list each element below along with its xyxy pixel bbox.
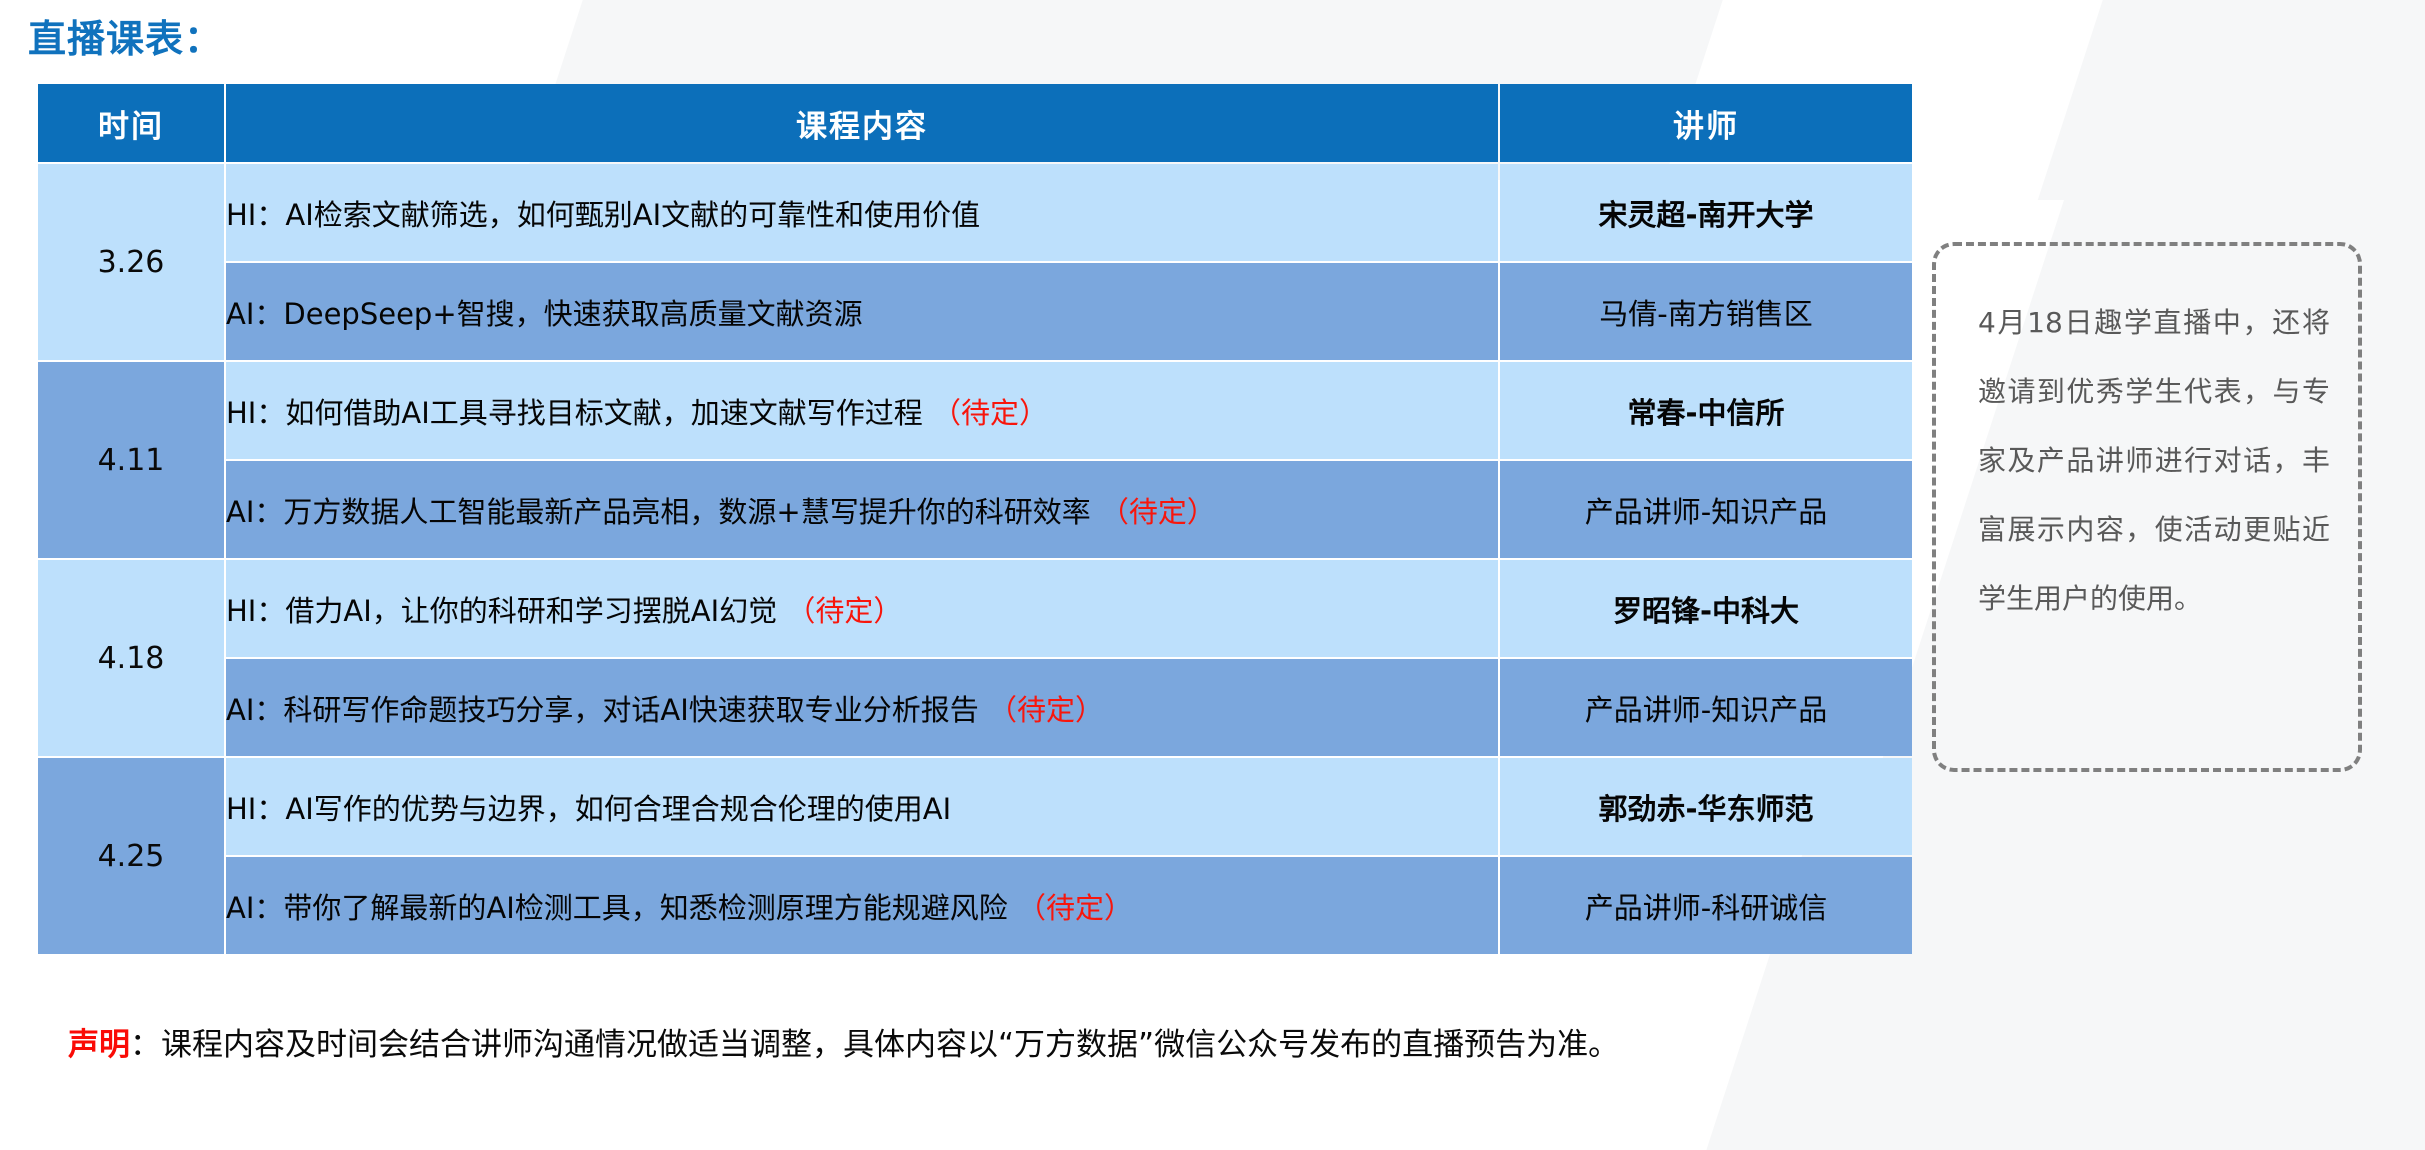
course-title: AI：带你了解最新的AI检测工具，知悉检测原理方能规避风险 [226,891,1008,925]
cell-date: 4.11 [38,362,224,558]
table-header-row: 时间 课程内容 讲师 [38,84,1912,162]
cell-teacher: 常春-中信所 [1500,362,1912,459]
cell-course-content: AI：科研写作命题技巧分享，对话AI快速获取专业分析报告 （待定） [226,659,1498,756]
schedule-table: 时间 课程内容 讲师 3.26HI：AI检索文献筛选，如何甄别AI文献的可靠性和… [36,82,1914,956]
table-row: 4.25HI：AI写作的优势与边界，如何合理合规合伦理的使用AI郭劲赤-华东师范 [38,758,1912,855]
cell-course-content: AI：DeepSeep+智搜，快速获取高质量文献资源 [226,263,1498,360]
cell-course-content: HI：AI写作的优势与边界，如何合理合规合伦理的使用AI [226,758,1498,855]
table-row: 4.11HI：如何借助AI工具寻找目标文献，加速文献写作过程 （待定）常春-中信… [38,362,1912,459]
callout-text: 4月18日趣学直播中，还将邀请到优秀学生代表，与专家及产品讲师进行对话，丰富展示… [1978,288,2330,633]
table-row: AI：科研写作命题技巧分享，对话AI快速获取专业分析报告 （待定）产品讲师-知识… [38,659,1912,756]
statement-label: 声明 [68,1027,130,1063]
course-title: HI：借力AI，让你的科研和学习摆脱AI幻觉 [226,594,777,628]
course-title: HI：AI写作的优势与边界，如何合理合规合伦理的使用AI [226,792,951,826]
statement: 声明：课程内容及时间会结合讲师沟通情况做适当调整，具体内容以“万方数据”微信公众… [68,1022,2358,1068]
cell-teacher: 马倩-南方销售区 [1500,263,1912,360]
table-header: 时间 课程内容 讲师 [38,84,1912,162]
cell-teacher: 宋灵超-南开大学 [1500,164,1912,261]
course-title: AI：科研写作命题技巧分享，对话AI快速获取专业分析报告 [226,693,979,727]
cell-course-content: HI：AI检索文献筛选，如何甄别AI文献的可靠性和使用价值 [226,164,1498,261]
pending-badge: （待定） [1100,495,1216,529]
column-header-content: 课程内容 [226,84,1498,162]
cell-teacher: 产品讲师-知识产品 [1500,461,1912,558]
table-row: AI：DeepSeep+智搜，快速获取高质量文献资源马倩-南方销售区 [38,263,1912,360]
pending-badge: （待定） [988,693,1104,727]
course-title: HI：如何借助AI工具寻找目标文献，加速文献写作过程 [226,396,923,430]
course-title: AI：DeepSeep+智搜，快速获取高质量文献资源 [226,297,863,331]
cell-teacher: 产品讲师-科研诚信 [1500,857,1912,954]
course-title: HI：AI检索文献筛选，如何甄别AI文献的可靠性和使用价值 [226,198,980,232]
cell-course-content: HI：如何借助AI工具寻找目标文献，加速文献写作过程 （待定） [226,362,1498,459]
cell-course-content: AI：万方数据人工智能最新产品亮相，数源+慧写提升你的科研效率 （待定） [226,461,1498,558]
table-row: 3.26HI：AI检索文献筛选，如何甄别AI文献的可靠性和使用价值宋灵超-南开大… [38,164,1912,261]
cell-teacher: 罗昭锋-中科大 [1500,560,1912,657]
background-band [2038,0,2425,200]
column-header-teacher: 讲师 [1500,84,1912,162]
course-title: AI：万方数据人工智能最新产品亮相，数源+慧写提升你的科研效率 [226,495,1091,529]
cell-teacher: 产品讲师-知识产品 [1500,659,1912,756]
statement-body: 课程内容及时间会结合讲师沟通情况做适当调整，具体内容以“万方数据”微信公众号发布… [161,1027,1619,1063]
cell-teacher: 郭劲赤-华东师范 [1500,758,1912,855]
pending-badge: （待定） [1017,891,1133,925]
cell-date: 4.18 [38,560,224,756]
statement-separator: ： [130,1027,161,1063]
cell-date: 3.26 [38,164,224,360]
table-row: 4.18HI：借力AI，让你的科研和学习摆脱AI幻觉 （待定）罗昭锋-中科大 [38,560,1912,657]
column-header-time: 时间 [38,84,224,162]
cell-date: 4.25 [38,758,224,954]
cell-course-content: AI：带你了解最新的AI检测工具，知悉检测原理方能规避风险 （待定） [226,857,1498,954]
table-row: AI：带你了解最新的AI检测工具，知悉检测原理方能规避风险 （待定）产品讲师-科… [38,857,1912,954]
table-row: AI：万方数据人工智能最新产品亮相，数源+慧写提升你的科研效率 （待定）产品讲师… [38,461,1912,558]
table-body: 3.26HI：AI检索文献筛选，如何甄别AI文献的可靠性和使用价值宋灵超-南开大… [38,164,1912,954]
pending-badge: （待定） [786,594,902,628]
pending-badge: （待定） [932,396,1048,430]
page-title: 直播课表： [28,8,223,63]
cell-course-content: HI：借力AI，让你的科研和学习摆脱AI幻觉 （待定） [226,560,1498,657]
